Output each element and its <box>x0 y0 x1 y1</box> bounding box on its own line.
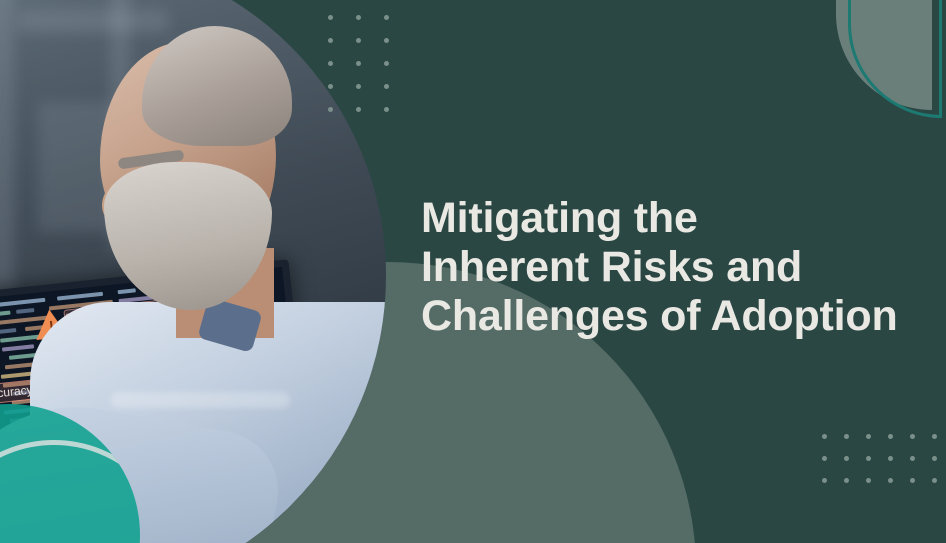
code-line-segment <box>0 311 11 317</box>
grid-dot <box>328 84 333 89</box>
grid-dot <box>328 15 333 20</box>
grid-dot <box>822 456 827 461</box>
code-line-segment <box>0 298 45 307</box>
dot-grid-bottom-right <box>822 434 946 500</box>
grid-dot <box>866 434 871 439</box>
grid-dot <box>844 478 849 483</box>
grid-dot <box>910 456 915 461</box>
grid-dot <box>384 61 389 66</box>
grid-dot <box>822 478 827 483</box>
grid-dot <box>384 84 389 89</box>
grid-dot <box>932 478 937 483</box>
grid-dot <box>384 15 389 20</box>
grid-dot <box>910 478 915 483</box>
grid-dot <box>384 107 389 112</box>
grid-dot <box>822 434 827 439</box>
shirt-fold <box>110 392 290 408</box>
code-line-segment <box>0 328 16 334</box>
grid-dot <box>356 107 361 112</box>
banner-slide: ! Warninn: Checlate acbias accuracy Chec… <box>0 0 946 543</box>
page-title: Mitigating the Inherent Risks and Challe… <box>421 194 921 341</box>
grid-dot <box>888 478 893 483</box>
code-line-segment <box>0 335 39 343</box>
code-line-segment <box>2 344 34 351</box>
grid-dot <box>888 456 893 461</box>
office-blur-bar <box>0 0 14 292</box>
grid-dot <box>866 478 871 483</box>
grid-dot <box>356 38 361 43</box>
teal-outline-corner-decoration <box>848 0 942 118</box>
code-line-segment <box>16 308 34 314</box>
grid-dot <box>910 434 915 439</box>
grid-dot <box>932 456 937 461</box>
dot-grid-top-left <box>328 15 412 130</box>
title-line-1: Mitigating the <box>421 194 921 243</box>
title-line-3: Challenges of Adoption <box>421 292 921 341</box>
grid-dot <box>356 61 361 66</box>
grid-dot <box>328 107 333 112</box>
grid-dot <box>384 38 389 43</box>
grid-dot <box>888 434 893 439</box>
grid-dot <box>328 38 333 43</box>
grid-dot <box>866 456 871 461</box>
grid-dot <box>932 434 937 439</box>
grid-dot <box>328 61 333 66</box>
grid-dot <box>356 15 361 20</box>
title-line-2: Inherent Risks and <box>421 243 921 292</box>
grid-dot <box>356 84 361 89</box>
hair <box>142 26 292 146</box>
grid-dot <box>844 434 849 439</box>
grid-dot <box>844 456 849 461</box>
